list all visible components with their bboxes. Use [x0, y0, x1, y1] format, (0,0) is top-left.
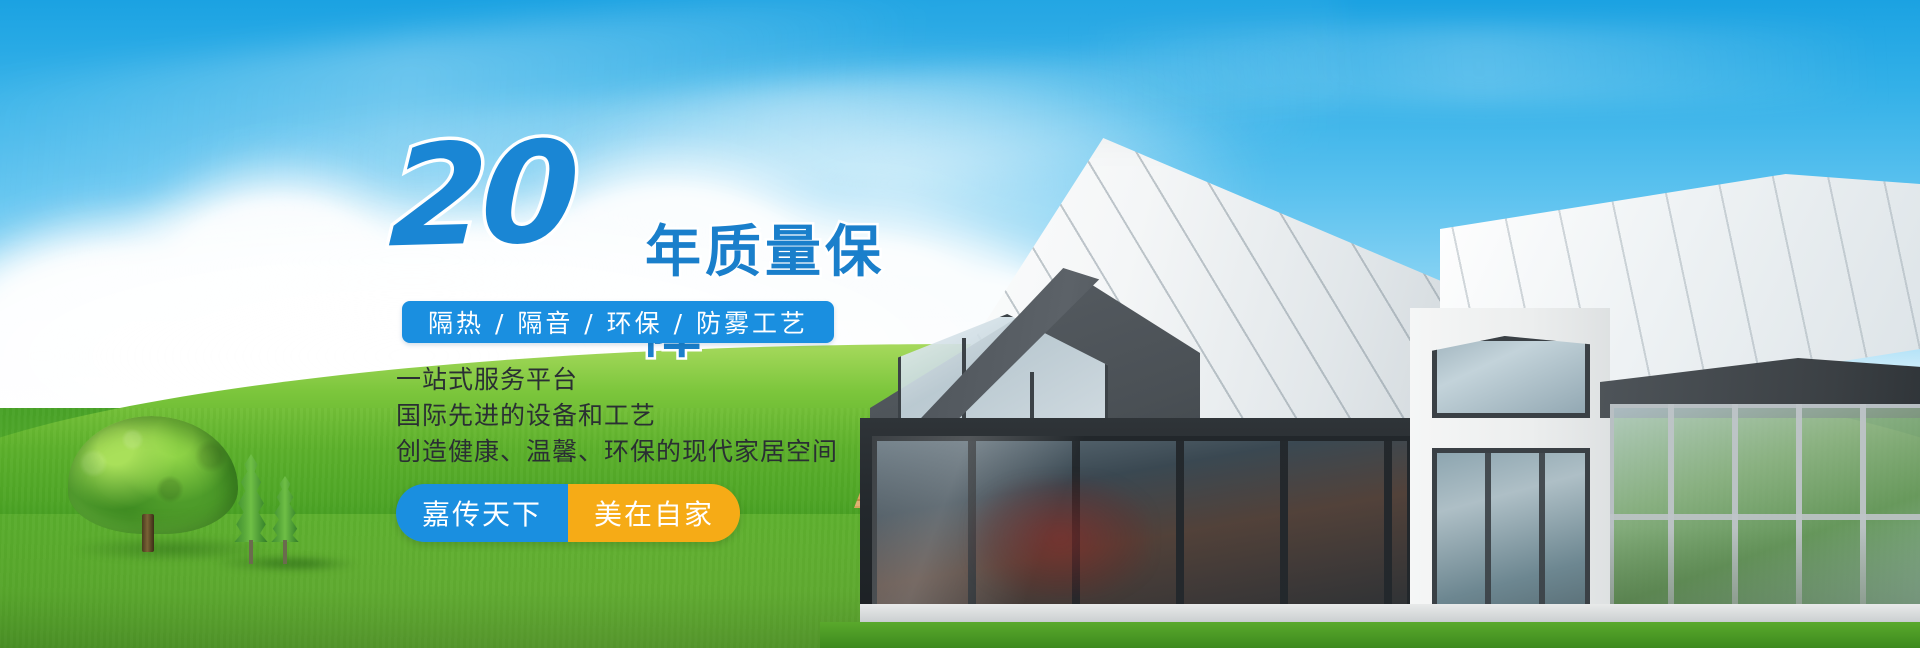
cta-left-label[interactable]: 嘉传天下 [396, 484, 568, 542]
house-right-annex-glass [1610, 404, 1920, 616]
description-line-1: 一站式服务平台 [396, 362, 838, 398]
house-lower-window [1432, 448, 1590, 626]
banner-copy: 20 年质量保障 隔热 / 隔音 / 环保 / 防雾工艺 一站式服务平台 国际先… [0, 0, 900, 648]
description-block: 一站式服务平台 国际先进的设备和工艺 创造健康、温馨、环保的现代家居空间 [396, 362, 838, 470]
description-line-2: 国际先进的设备和工艺 [396, 398, 838, 434]
feature-pill-label: 隔热 / 隔音 / 环保 / 防雾工艺 [428, 304, 808, 340]
feature-pill: 隔热 / 隔音 / 环保 / 防雾工艺 [402, 301, 834, 343]
years-number: 20 [387, 124, 576, 269]
modern-glass-sunroom-house [820, 118, 1920, 648]
house-grass-strip [820, 622, 1920, 648]
house-interior-reflection [970, 478, 1150, 598]
promo-banner: 20 年质量保障 隔热 / 隔音 / 环保 / 防雾工艺 一站式服务平台 国际先… [0, 0, 1920, 648]
headline-text: 年质量保障 [645, 207, 900, 369]
cta-slogan-button[interactable]: 嘉传天下 美在自家 [396, 484, 740, 542]
house-upper-window [1432, 336, 1590, 418]
description-line-3: 创造健康、温馨、环保的现代家居空间 [396, 434, 838, 470]
cta-right-label[interactable]: 美在自家 [568, 484, 740, 542]
